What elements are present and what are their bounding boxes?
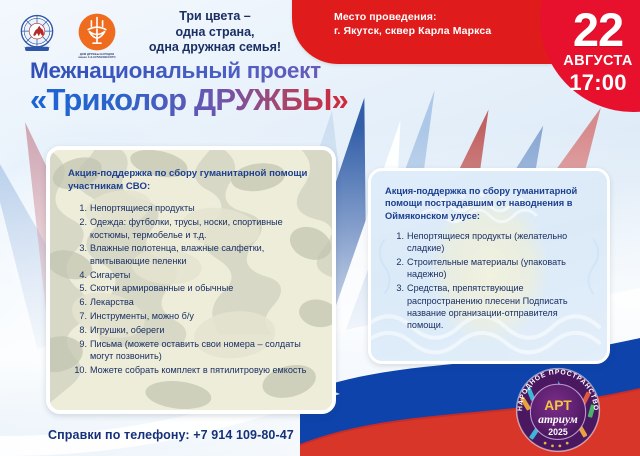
left-card-heading: Акция-поддержка по сбору гуманитарной по… (68, 168, 318, 193)
badge-line2: атриум (538, 414, 578, 426)
venue-label: Место проведения: (334, 10, 554, 24)
badge-line1: АРТ (544, 398, 572, 413)
dom-druzhby-narodov-logo: ДОМ ДРУЖБЫ НАРОДОВимени А.Е.КУЛАКОВСКОГО (74, 10, 120, 59)
right-info-card: Акция-поддержка по сбору гуманитарной по… (368, 168, 610, 364)
list-item: Игрушки, обереги (90, 324, 318, 336)
date-day: 22 (556, 8, 640, 51)
date-month: АВГУСТА (556, 53, 640, 69)
list-item: Скотчи армированные и обычные (90, 282, 318, 294)
sakha-emblem-icon (14, 10, 60, 56)
right-card-list: Непортящиеся продукты (желательно сладки… (385, 230, 595, 331)
list-item: Влажные полотенца, влажные салфетки, впи… (90, 242, 318, 267)
list-item: Инструменты, можно б/у (90, 310, 318, 322)
poster-canvas: Место проведения: г. Якутск, сквер Карла… (0, 0, 640, 456)
main-title: Межнациональный проект «Триколор ДРУЖБЫ» (30, 60, 450, 116)
list-item: Лекарства (90, 296, 318, 308)
list-item: Можете собрать комплект в пятилитровую е… (90, 364, 318, 376)
contact-phone[interactable]: Справки по телефону: +7 914 109-80-47 (48, 428, 294, 442)
right-card-heading: Акция-поддержка по сбору гуманитарной по… (385, 185, 595, 222)
tagline-line-2: одна страна, (120, 25, 310, 41)
tagline-line-3: одна дружная семья! (120, 40, 310, 56)
list-item: Непортящиеся продукты (90, 202, 318, 214)
venue-block: Место проведения: г. Якутск, сквер Карла… (334, 10, 554, 39)
list-item: Письма (можете оставить свои номера – со… (90, 338, 318, 363)
venue-value: г. Якутск, сквер Карла Маркса (334, 24, 554, 38)
list-item: Сигареты (90, 269, 318, 281)
list-item: Одежда: футболки, трусы, носки, спортивн… (90, 216, 318, 241)
sakha-republic-emblem (14, 10, 60, 61)
tagline-line-1: Три цвета – (120, 9, 310, 25)
date-time: 17:00 (556, 70, 640, 96)
left-info-card: Акция-поддержка по сбору гуманитарной по… (46, 146, 336, 414)
list-item: Строительные материалы (упаковать надежн… (407, 256, 595, 280)
tagline: Три цвета – одна страна, одна дружная се… (120, 9, 310, 56)
left-card-list: Непортящиеся продукты Одежда: футболки, … (68, 202, 318, 376)
art-atrium-badge: НАРОДНОЕ ПРОСТРАНСТВО АРТ атриум 2025 (512, 364, 604, 456)
title-line-1: Межнациональный проект (30, 60, 450, 83)
badge-year: 2025 (548, 427, 568, 437)
logo-row: ДОМ ДРУЖБЫ НАРОДОВимени А.Е.КУЛАКОВСКОГО (14, 10, 120, 61)
list-item: Непортящиеся продукты (желательно сладки… (407, 230, 595, 254)
title-line-2: «Триколор ДРУЖБЫ» (30, 84, 450, 117)
dom-druzhby-icon (77, 12, 117, 52)
date-block: 22 АВГУСТА 17:00 (556, 8, 640, 96)
list-item: Средства, препятствующие распространению… (407, 282, 595, 331)
